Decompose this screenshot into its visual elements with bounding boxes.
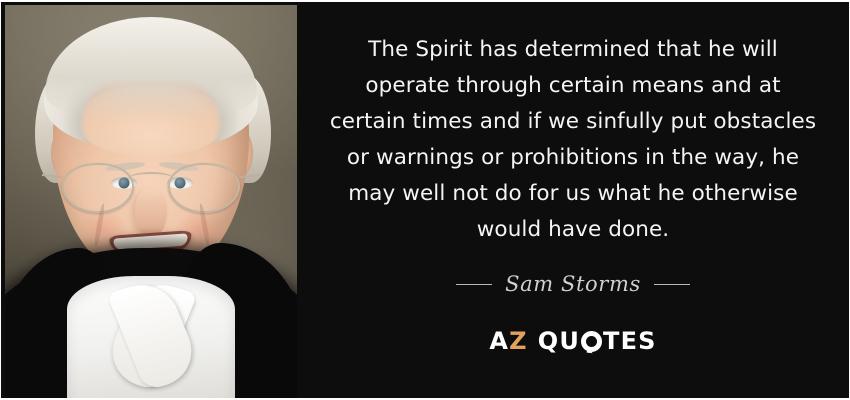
white-shirt: [67, 276, 235, 398]
quote-card: The Spirit has determined that he will o…: [0, 0, 850, 400]
quote-pane: The Spirit has determined that he will o…: [297, 2, 849, 398]
lens-left: [62, 163, 134, 213]
author-portrait-photo: [5, 5, 297, 398]
speech-bubble-icon: [581, 331, 602, 352]
logo-letters-tes: TES: [603, 327, 657, 355]
attribution: Sam Storms: [321, 272, 825, 296]
logo-letters-qu: QU: [538, 327, 580, 355]
quote-text: The Spirit has determined that he will o…: [329, 32, 817, 248]
attribution-rule-right: [654, 284, 690, 285]
nose: [135, 189, 167, 237]
portrait-pane: [1, 2, 297, 398]
author-name: Sam Storms: [505, 272, 641, 296]
az-quotes-logo[interactable]: AZ QUTES: [489, 327, 656, 355]
attribution-rule-left: [456, 284, 492, 285]
glasses-bridge: [129, 172, 173, 184]
logo-letter-a: A: [489, 327, 509, 355]
logo-letter-z: Z: [509, 327, 528, 355]
lens-right: [168, 163, 240, 213]
